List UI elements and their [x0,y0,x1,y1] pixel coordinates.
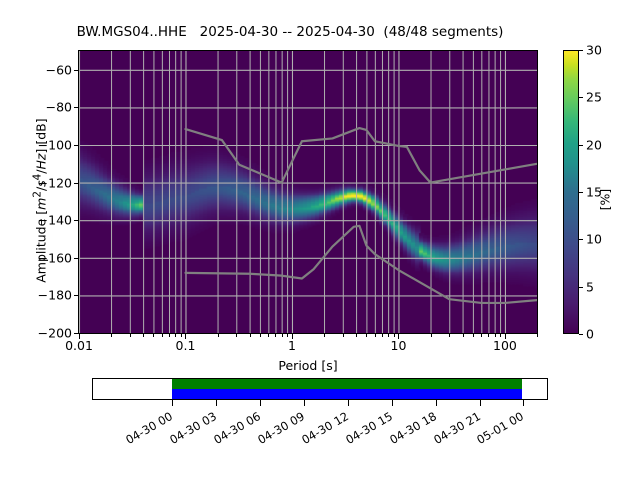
noise-model-curves [79,51,537,333]
timeline-tick-mark [480,400,481,406]
y-tick-label: −100 [38,138,72,153]
x-tick-mark-minor [218,334,219,337]
x-tick-mark-minor [287,334,288,337]
y-tick-label: −80 [46,100,72,115]
x-tick-mark-minor [388,334,389,337]
x-tick-label: 10 [391,338,407,353]
colorbar-tick-label: 25 [586,90,602,105]
x-tick-mark-minor [181,334,182,337]
colorbar-tick-mark [579,192,583,193]
figure-title: BW.MGS04..HHE 2025-04-30 -- 2025-04-30 (… [0,24,580,40]
timeline-blue-bar [172,389,522,399]
x-tick-mark-minor [343,334,344,337]
timeline-green-bar [172,379,522,389]
x-tick-mark-minor [375,334,376,337]
timeline-tick-mark [392,400,393,406]
colorbar-tick-mark [579,239,583,240]
x-tick-mark-minor [500,334,501,337]
x-tick-mark-minor [130,334,131,337]
x-tick-mark-minor [473,334,474,337]
colorbar[interactable] [563,50,579,334]
x-tick-mark-minor [431,334,432,337]
colorbar-tick-mark [579,334,583,335]
timeline-tick-mark [304,400,305,406]
x-tick-label: 0.1 [176,338,196,353]
x-tick-mark-minor [111,334,112,337]
x-tick-mark-minor [236,334,237,337]
x-tick-mark-minor [537,334,538,337]
x-tick-mark-minor [250,334,251,337]
x-tick-mark-minor [175,334,176,337]
x-tick-mark-minor [275,334,276,337]
y-tick-mark [74,258,78,259]
timeline-tick-mark [523,400,524,406]
x-tick-mark-minor [153,334,154,337]
x-tick-label: 0.01 [65,338,93,353]
x-tick-mark-minor [382,334,383,337]
timeline-tick-mark [260,400,261,406]
x-tick-mark-minor [481,334,482,337]
x-tick-mark-minor [449,334,450,337]
timeline-tick-mark [348,400,349,406]
x-tick-mark-minor [162,334,163,337]
x-tick-mark-minor [463,334,464,337]
colorbar-tick-mark [579,287,583,288]
y-tick-label: −180 [38,288,72,303]
y-tick-mark [74,145,78,146]
x-axis-label: Period [s] [78,358,538,373]
colorbar-tick-mark [579,97,583,98]
timeline-tick-mark [436,400,437,406]
y-tick-label: −160 [38,250,72,265]
colorbar-tick-label: 20 [586,137,602,152]
x-tick-mark-minor [366,334,367,337]
y-tick-mark [74,220,78,221]
x-tick-mark-minor [282,334,283,337]
colorbar-tick-label: 0 [586,327,594,342]
x-tick-mark-minor [495,334,496,337]
y-tick-mark [74,183,78,184]
x-tick-mark-minor [143,334,144,337]
y-tick-mark [74,107,78,108]
ppsd-plot-area[interactable] [78,50,538,334]
y-tick-mark [74,295,78,296]
y-tick-label: −140 [38,213,72,228]
y-axis-label: Amplitude [m2/s4/Hz] [dB] [31,51,48,351]
colorbar-tick-label: 5 [586,279,594,294]
timeline-tick-mark [216,400,217,406]
y-tick-mark [74,70,78,71]
x-tick-label: 100 [493,338,517,353]
x-tick-label: 1 [288,338,296,353]
coverage-timeline[interactable] [92,378,548,400]
colorbar-tick-mark [579,145,583,146]
x-tick-mark-minor [394,334,395,337]
colorbar-tick-label: 10 [586,232,602,247]
x-tick-mark-minor [488,334,489,337]
x-tick-mark-minor [324,334,325,337]
y-tick-label: −60 [46,62,72,77]
colorbar-tick-mark [579,50,583,51]
x-tick-mark-minor [260,334,261,337]
x-tick-mark-minor [169,334,170,337]
colorbar-tick-label: 30 [586,43,602,58]
x-tick-mark-minor [356,334,357,337]
timeline-tick-mark [172,400,173,406]
y-tick-mark [74,333,78,334]
x-tick-mark-minor [268,334,269,337]
y-tick-label: −120 [38,175,72,190]
colorbar-tick-label: 15 [586,185,602,200]
ppsd-figure: BW.MGS04..HHE 2025-04-30 -- 2025-04-30 (… [0,0,640,480]
